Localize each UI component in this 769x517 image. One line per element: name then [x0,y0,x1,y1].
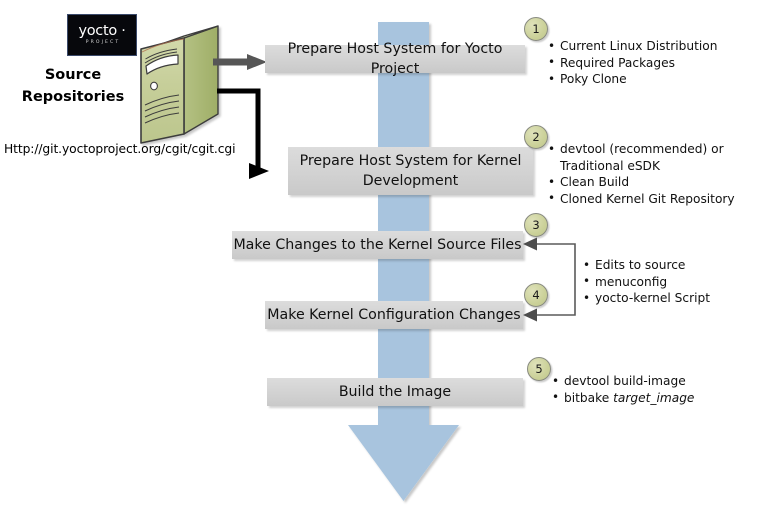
source-label-line1: Source [8,64,138,86]
step-box-5[interactable]: Build the Image [267,378,523,406]
list-item: Poky Clone [548,71,717,88]
step-2-bullets: devtool (recommended) or Traditional eSD… [548,141,735,207]
list-item: menuconfig [583,274,710,291]
list-item: Required Packages [548,55,717,72]
connector-arrow-to-step2 [217,91,269,179]
feedback-bracket-connector [521,234,585,326]
list-item: bitbake target_image [552,390,694,407]
list-item-command: bitbake [564,391,613,405]
list-item: Edits to source [583,257,710,274]
diagram-canvas: yocto · PROJECT Source Repositories [0,0,769,517]
step-box-4-label: Make Kernel Configuration Changes [267,305,520,325]
step-box-4[interactable]: Make Kernel Configuration Changes [265,301,523,329]
list-item: Cloned Kernel Git Repository [548,191,735,208]
source-repositories-label: Source Repositories [8,64,138,108]
yocto-project-logo: yocto · PROJECT [67,14,137,56]
step-number-5: 5 [527,357,551,381]
step-number-1: 1 [524,17,548,41]
step-box-2[interactable]: Prepare Host System for Kernel Developme… [288,147,533,195]
step-box-2-label-line1: Prepare Host System for Kernel [300,151,522,171]
step-box-5-label: Build the Image [339,382,451,402]
yocto-logo-main-text: yocto · [78,24,125,39]
list-item-continuation: Traditional eSDK [548,158,735,175]
connector-arrow-to-step1 [213,54,267,70]
list-item: devtool (recommended) or [548,141,735,158]
steps-3-4-bullets: Edits to source menuconfig yocto-kernel … [583,257,710,307]
list-item: devtool build-image [552,373,694,390]
step-box-3[interactable]: Make Changes to the Kernel Source Files [232,231,523,259]
step-box-1-label: Prepare Host System for Yocto Project [265,39,525,79]
list-item: Current Linux Distribution [548,38,717,55]
list-item: yocto-kernel Script [583,290,710,307]
step-number-2: 2 [524,125,548,149]
list-item-argument: target_image [613,391,694,405]
step-box-3-label: Make Changes to the Kernel Source Files [233,235,521,255]
source-url-label: Http://git.yoctoproject.org/cgit/cgit.cg… [4,142,235,156]
step-1-bullets: Current Linux Distribution Required Pack… [548,38,717,88]
step-box-1[interactable]: Prepare Host System for Yocto Project [265,45,525,73]
source-label-line2: Repositories [8,86,138,108]
yocto-logo-sub-text: PROJECT [84,41,121,46]
list-item: Clean Build [548,174,735,191]
step-box-2-label-line2: Development [363,171,459,191]
step-5-bullets: devtool build-image bitbake target_image [552,373,694,406]
